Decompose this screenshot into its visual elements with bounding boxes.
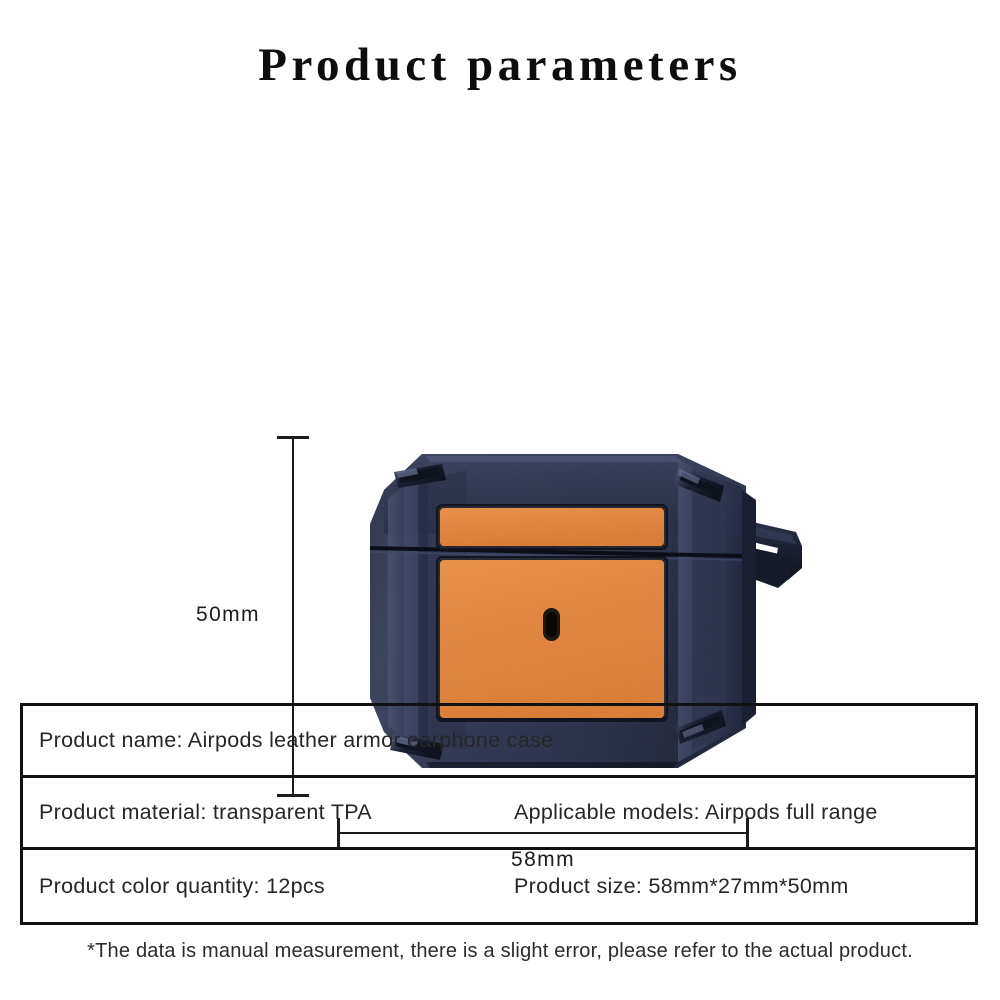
table-row: Product name: Airpods leather armor earp… (23, 706, 975, 778)
spec-product-size: Product size: 58mm*27mm*50mm (498, 850, 975, 922)
product-illustration-stage: 50mm 58mm (0, 200, 1000, 680)
led-slot-icon (543, 608, 560, 641)
table-row: Product color quantity: 12pcs Product si… (23, 850, 975, 922)
spec-product-material: Product material: transparent TPA (23, 778, 498, 847)
leather-panel-main (436, 556, 668, 722)
leather-panel-top (436, 504, 668, 550)
specification-table: Product name: Airpods leather armor earp… (20, 703, 978, 925)
spec-applicable-models: Applicable models: Airpods full range (498, 778, 975, 847)
spec-color-quantity: Product color quantity: 12pcs (23, 850, 498, 922)
height-dimension-label: 50mm (196, 603, 260, 627)
page-title: Product parameters (0, 38, 1000, 92)
table-row: Product material: transparent TPA Applic… (23, 778, 975, 850)
spec-product-name: Product name: Airpods leather armor earp… (23, 706, 975, 775)
measurement-disclaimer: *The data is manual measurement, there i… (0, 940, 1000, 963)
